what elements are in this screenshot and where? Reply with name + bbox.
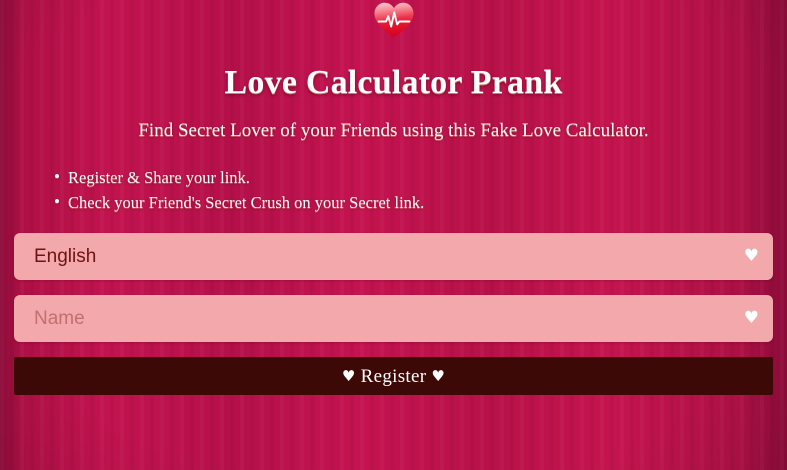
language-select[interactable]: English [14,233,773,280]
register-button-label: Register [361,366,427,387]
heart-icon-left: ♥ [342,367,356,385]
heart-with-pulse-icon [373,1,415,39]
heart-icon-right: ♥ [431,367,445,385]
language-select-wrap: English ♥ [14,233,773,280]
register-button[interactable]: ♥ Register ♥ [14,357,773,395]
register-form: English ♥ Name ♥ ♥ Register ♥ [14,215,773,395]
name-input[interactable]: Name [14,295,773,342]
list-item: Register & Share your link. [54,165,773,190]
hero-icon-row [14,0,773,40]
page-title: Love Calculator Prank [14,40,773,102]
page-subtitle: Find Secret Lover of your Friends using … [14,102,773,143]
feature-list: Register & Share your link. Check your F… [14,143,773,215]
list-item: Check your Friend's Secret Crush on your… [54,190,773,215]
page-root: Love Calculator Prank Find Secret Lover … [0,0,787,470]
name-input-wrap: Name ♥ [14,295,773,342]
